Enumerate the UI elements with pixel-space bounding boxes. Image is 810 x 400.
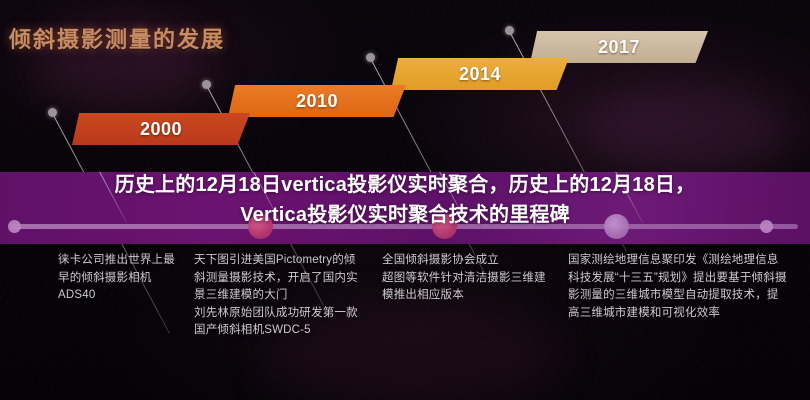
- overlay-title: 历史上的12月18日vertica投影仪实时聚合，历史上的12月18日， Ver…: [0, 170, 810, 230]
- timeline-node-2014: [366, 53, 375, 62]
- overlay-title-line2: Vertica投影仪实时聚合技术的里程碑: [0, 200, 810, 230]
- description-paragraph: 超图等软件针对清洁摄影三维建模推出相应版本: [382, 270, 550, 305]
- description-paragraph: 全国倾斜摄影协会成立: [382, 252, 550, 270]
- infographic-screenshot: 倾斜摄影测量的发展 2017 2014 2010 2000 历史上的12月18日…: [0, 0, 810, 400]
- page-title: 倾斜摄影测量的发展: [9, 22, 225, 54]
- timeline-chevron-2010[interactable]: 2010: [228, 85, 406, 117]
- description-column-2000: 徕卡公司推出世界上最早的倾斜摄影相机ADS40: [0, 246, 186, 400]
- description-columns: 徕卡公司推出世界上最早的倾斜摄影相机ADS40 天下图引进美国Pictometr…: [0, 246, 810, 400]
- timeline-node-2000: [48, 108, 57, 117]
- timeline-chevron-2000[interactable]: 2000: [72, 113, 250, 145]
- description-paragraph: 国家测绘地理信息聚印发《测绘地理信息科技发展“十三五”规划》提出要基于倾斜摄影测…: [568, 252, 788, 322]
- timeline-node-2017: [505, 26, 514, 35]
- timeline-node-2010: [202, 80, 211, 89]
- description-paragraph: 刘先林原始团队成功研发第一款国产倾斜相机SWDC-5: [194, 305, 364, 340]
- overlay-title-line1: 历史上的12月18日vertica投影仪实时聚合，历史上的12月18日，: [115, 174, 696, 196]
- description-paragraph: 徕卡公司推出世界上最早的倾斜摄影相机ADS40: [58, 252, 176, 305]
- description-column-2014: 全国倾斜摄影协会成立 超图等软件针对清洁摄影三维建模推出相应版本: [374, 246, 560, 400]
- description-column-2010: 天下图引进美国Pictometry的倾斜测量摄影技术，开启了国内实景三维建模的大…: [186, 246, 374, 400]
- description-paragraph: 天下图引进美国Pictometry的倾斜测量摄影技术，开启了国内实景三维建模的大…: [194, 252, 364, 305]
- timeline-year-2010: 2010: [296, 91, 338, 112]
- timeline-year-2000: 2000: [140, 119, 182, 140]
- timeline-year-2014: 2014: [459, 64, 501, 85]
- timeline-chevron-2014[interactable]: 2014: [391, 58, 569, 90]
- description-column-2017: 国家测绘地理信息聚印发《测绘地理信息科技发展“十三五”规划》提出要基于倾斜摄影测…: [560, 246, 810, 400]
- timeline-year-2017: 2017: [598, 37, 640, 58]
